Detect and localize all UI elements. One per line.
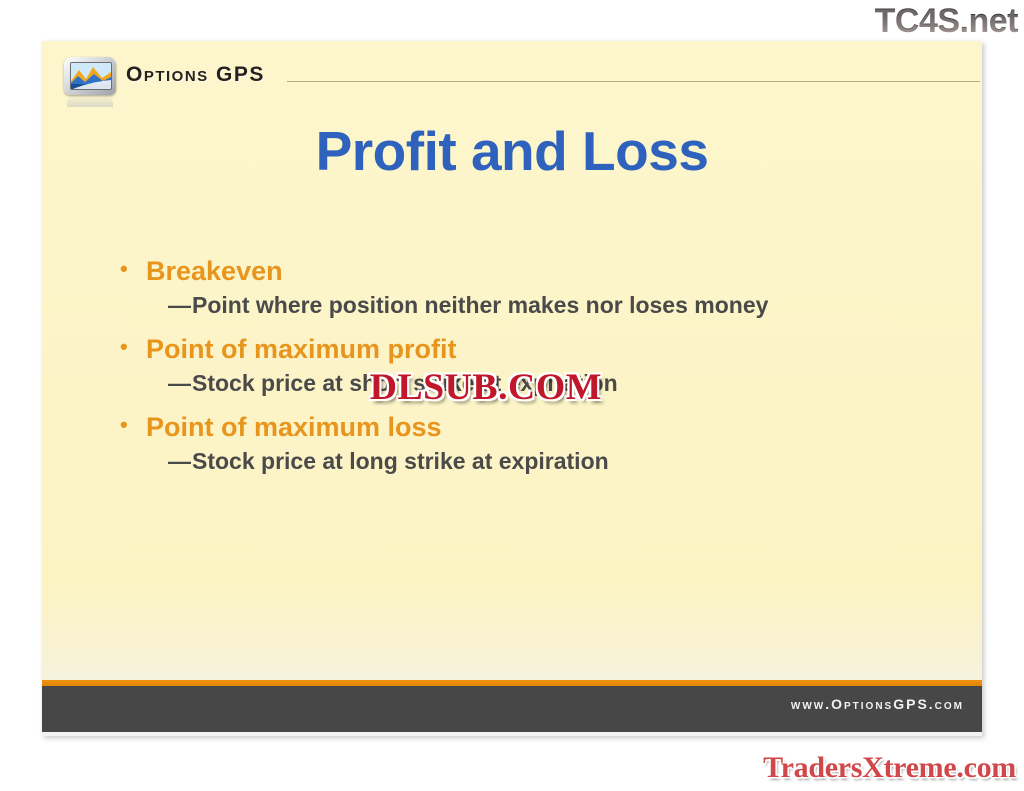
bullet-group: • Breakeven — Point where position neith…	[120, 253, 950, 321]
footer-url-label: www.OptionsGPS.com	[791, 696, 964, 712]
em-dash-icon: —	[168, 291, 192, 320]
tc4s-site-brand: TC4S.net	[875, 2, 1018, 41]
bullet-item: • Point of maximum profit	[120, 331, 950, 367]
bullet-dot-icon: •	[120, 331, 146, 363]
sub-bullet-label: Point where position neither makes nor l…	[192, 291, 768, 320]
bullet-dot-icon: •	[120, 253, 146, 285]
gps-device-icon	[64, 57, 120, 101]
options-gps-logo-text: Options GPS	[126, 63, 265, 87]
bullet-item: • Breakeven	[120, 253, 950, 289]
slide-header: Options GPS	[42, 41, 982, 103]
tradersxtreme-brand: TradersXtreme.com	[763, 751, 1016, 785]
em-dash-icon: —	[168, 447, 192, 476]
bullet-label: Breakeven	[146, 253, 283, 289]
slide-footer-bar: www.OptionsGPS.com	[42, 686, 982, 732]
bullet-group: • Point of maximum loss — Stock price at…	[120, 409, 950, 477]
header-divider	[287, 81, 980, 82]
em-dash-icon: —	[168, 369, 192, 398]
bullet-label: Point of maximum loss	[146, 409, 442, 445]
sub-bullet-label: Stock price at long strike at expiration	[192, 447, 609, 476]
dlsub-watermark: DLSUB.COM	[370, 366, 602, 409]
presentation-slide: Options GPS Profit and Loss • Breakeven …	[42, 41, 982, 736]
sub-bullet-item: — Stock price at long strike at expirati…	[120, 447, 950, 476]
sub-bullet-item: — Point where position neither makes nor…	[120, 291, 950, 320]
bullet-item: • Point of maximum loss	[120, 409, 950, 445]
page-title: Profit and Loss	[42, 119, 982, 183]
bullet-label: Point of maximum profit	[146, 331, 457, 367]
bullet-dot-icon: •	[120, 409, 146, 441]
